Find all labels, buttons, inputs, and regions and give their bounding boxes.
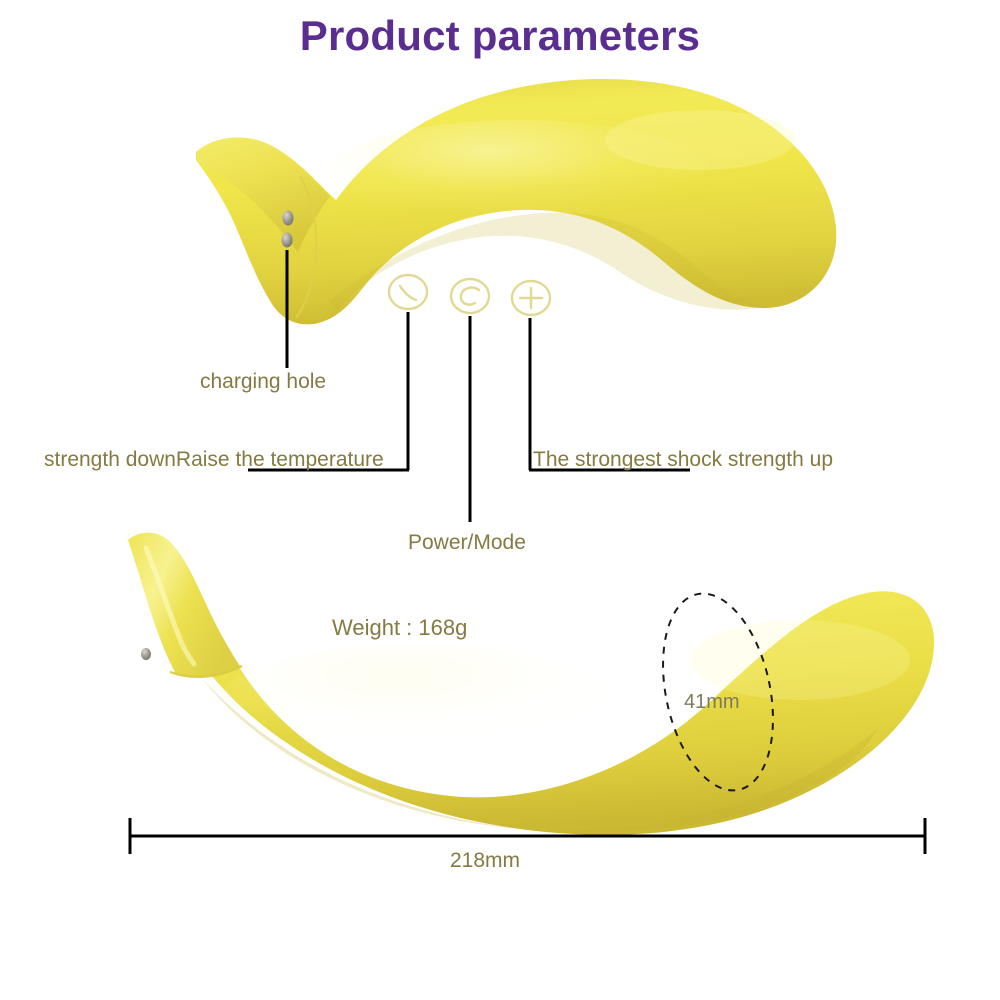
charging-pin-lower xyxy=(282,233,293,248)
label-charging-hole: charging hole xyxy=(200,370,326,394)
banana-bottom-gloss xyxy=(220,644,620,756)
banana-bottom-view xyxy=(128,533,934,835)
label-power-mode: Power/Mode xyxy=(408,531,526,555)
charging-pin-bottom xyxy=(141,648,151,660)
label-strength-down-raise-temperature: strength downRaise the temperature xyxy=(44,448,384,472)
label-diameter: 41mm xyxy=(684,691,740,714)
banana-top-gloss-secondary xyxy=(605,110,795,170)
banana-top-view xyxy=(196,79,836,324)
mode-button-icon[interactable] xyxy=(451,279,489,313)
product-parameters-page: Product parameters xyxy=(0,0,1000,1000)
label-weight: Weight : 168g xyxy=(332,615,467,641)
power-button-icon[interactable] xyxy=(389,275,427,309)
banana-bottom-gloss-right xyxy=(690,620,910,700)
label-length: 218mm xyxy=(450,849,520,873)
charging-pin-upper xyxy=(283,211,294,226)
plus-button-icon[interactable] xyxy=(512,281,550,315)
label-shock-strength-up: The strongest shock strength up xyxy=(533,448,833,472)
